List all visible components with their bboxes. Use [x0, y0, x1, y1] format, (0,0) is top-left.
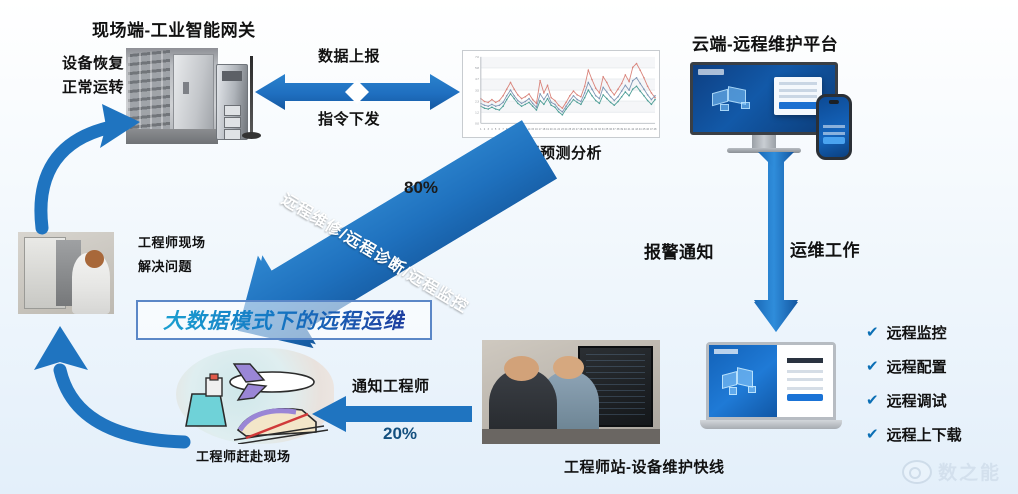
platform-illustration — [710, 82, 764, 114]
check-icon: ✔ — [866, 427, 879, 442]
svg-text:2.3: 2.3 — [475, 99, 479, 103]
maintenance-laptop — [700, 342, 842, 440]
diagram-canvas: 现场端-工业智能网关 设备恢复 正常运转 数据上报 指令下发 — [0, 0, 1018, 494]
svg-text:5.8: 5.8 — [475, 66, 479, 70]
engineer-onsite-label-line2: 解决问题 — [138, 256, 192, 275]
checklist-item-label: 远程调试 — [887, 390, 947, 411]
chart-svg: 1234567891011121314151617181920212223242… — [463, 51, 659, 137]
remote-capability-checklist: ✔ 远程监控 ✔ 远程配置 ✔ 远程调试 ✔ 远程上下载 — [866, 322, 962, 458]
engineer-travel-label: 工程师赶赴现场 — [196, 446, 291, 465]
cloud-platform-heading: 云端-远程维护平台 — [692, 30, 838, 55]
watermark-text: 数之能 — [938, 458, 1001, 485]
field-gateway-heading: 现场端-工业智能网关 — [92, 16, 256, 41]
weibo-icon — [902, 460, 932, 484]
ops-work-label: 运维工作 — [790, 236, 860, 261]
percent-20-label: 20% — [383, 424, 417, 444]
cloud-platform-phone — [816, 94, 852, 160]
ship-plane-train-illustration — [176, 348, 334, 444]
double-arrow-icon — [255, 72, 460, 112]
checklist-item-label: 远程上下载 — [887, 424, 962, 445]
percent-80-label: 80% — [404, 178, 438, 198]
svg-text:7.0: 7.0 — [475, 55, 479, 59]
engineer-onsite-label-line1: 工程师现场 — [138, 232, 206, 251]
curved-arrow-up-icon — [24, 100, 154, 230]
svg-text:3.5: 3.5 — [475, 88, 479, 92]
watermark: 数之能 — [902, 458, 1001, 485]
two-engineers-photo — [482, 340, 660, 444]
prediction-chart: 1234567891011121314151617181920212223242… — [462, 50, 660, 138]
notify-engineer-label: 通知工程师 — [352, 375, 430, 396]
checklist-item: ✔ 远程上下载 — [866, 424, 962, 445]
engineer-station-heading: 工程师站-设备维护快线 — [564, 456, 725, 477]
checklist-item: ✔ 远程调试 — [866, 390, 962, 411]
checklist-item: ✔ 远程监控 — [866, 322, 962, 343]
svg-text:0.0: 0.0 — [475, 122, 479, 126]
page-title: 大数据模式下的远程运维 — [163, 305, 405, 335]
device-recover-label-line1: 设备恢复 — [62, 52, 124, 73]
svg-text:4.7: 4.7 — [475, 77, 479, 81]
svg-text:1.2: 1.2 — [475, 110, 479, 114]
check-icon: ✔ — [866, 325, 879, 340]
page-title-box: 大数据模式下的远程运维 — [136, 300, 432, 340]
checklist-item: ✔ 远程配置 — [866, 356, 962, 377]
device-recover-label-line2: 正常运转 — [62, 76, 124, 97]
data-report-label: 数据上报 — [318, 45, 380, 66]
platform-login-card — [774, 77, 822, 114]
checklist-item-label: 远程配置 — [887, 356, 947, 377]
alarm-notice-label: 报警通知 — [644, 238, 714, 263]
engineer-onsite-photo — [18, 232, 114, 314]
checklist-item-label: 远程监控 — [887, 322, 947, 343]
check-icon: ✔ — [866, 393, 879, 408]
check-icon: ✔ — [866, 359, 879, 374]
